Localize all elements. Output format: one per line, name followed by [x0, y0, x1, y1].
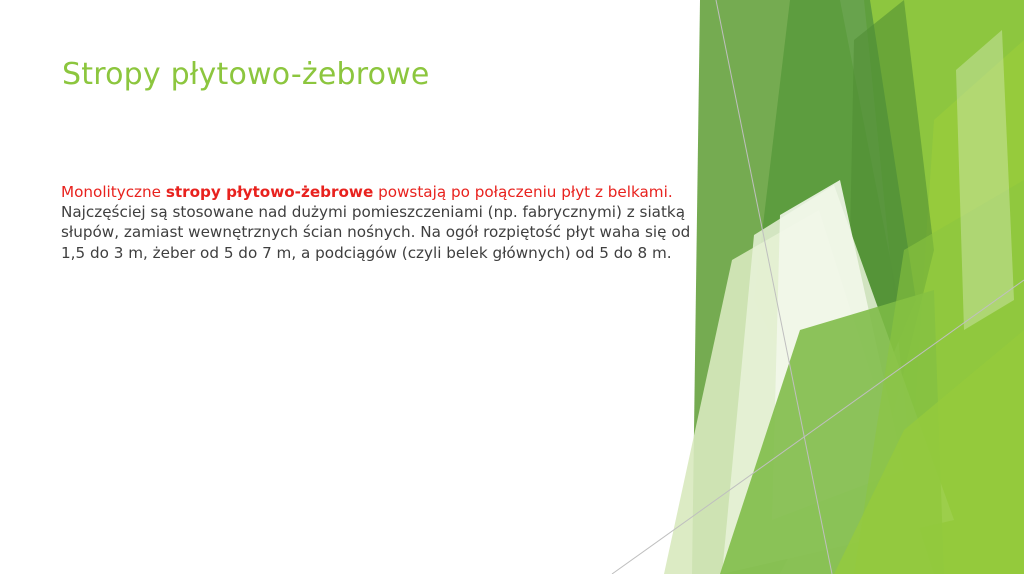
shape-deep-wedge — [850, 0, 934, 420]
body-line-3: 1,5 do 3 m, żeber od 5 do 7 m, a podciąg… — [61, 243, 801, 263]
shape-pale-right-sliver — [956, 30, 1014, 330]
shape-bright-right-top — [864, 0, 1024, 574]
hairline-diagonal-upper — [716, 0, 832, 574]
lead-plain-start: Monolityczne — [61, 183, 166, 201]
slide: Stropy płytowo-żebrowe Monolityczne stro… — [0, 0, 1024, 574]
shape-pale-wedge-lower — [664, 210, 934, 574]
body-line-2: słupów, zamiast wewnętrznych ścian nośny… — [61, 222, 801, 242]
hairline-diagonal-lower — [612, 280, 1024, 574]
shape-mid-green-lower-fan — [720, 290, 944, 574]
shape-bright-right-lower — [904, 40, 1024, 574]
lead-plain-end: powstają po połączeniu płyt z belkami. — [373, 183, 672, 201]
body-text-block: Monolityczne stropy płytowo-żebrowe pows… — [61, 182, 801, 263]
shape-bright-bottom-edge — [834, 330, 1024, 574]
shape-mid-left-top — [692, 0, 904, 574]
page-title: Stropy płytowo-żebrowe — [62, 57, 430, 92]
shape-light-lower-right — [854, 180, 1024, 574]
decorative-green-graphic — [604, 0, 1024, 574]
body-line-1: Najczęściej są stosowane nad dużymi pomi… — [61, 202, 801, 222]
lead-line: Monolityczne stropy płytowo-żebrowe pows… — [61, 182, 801, 202]
lead-bold-term: stropy płytowo-żebrowe — [166, 183, 373, 201]
decor-svg — [604, 0, 1024, 574]
decor-shapes — [612, 0, 1024, 574]
